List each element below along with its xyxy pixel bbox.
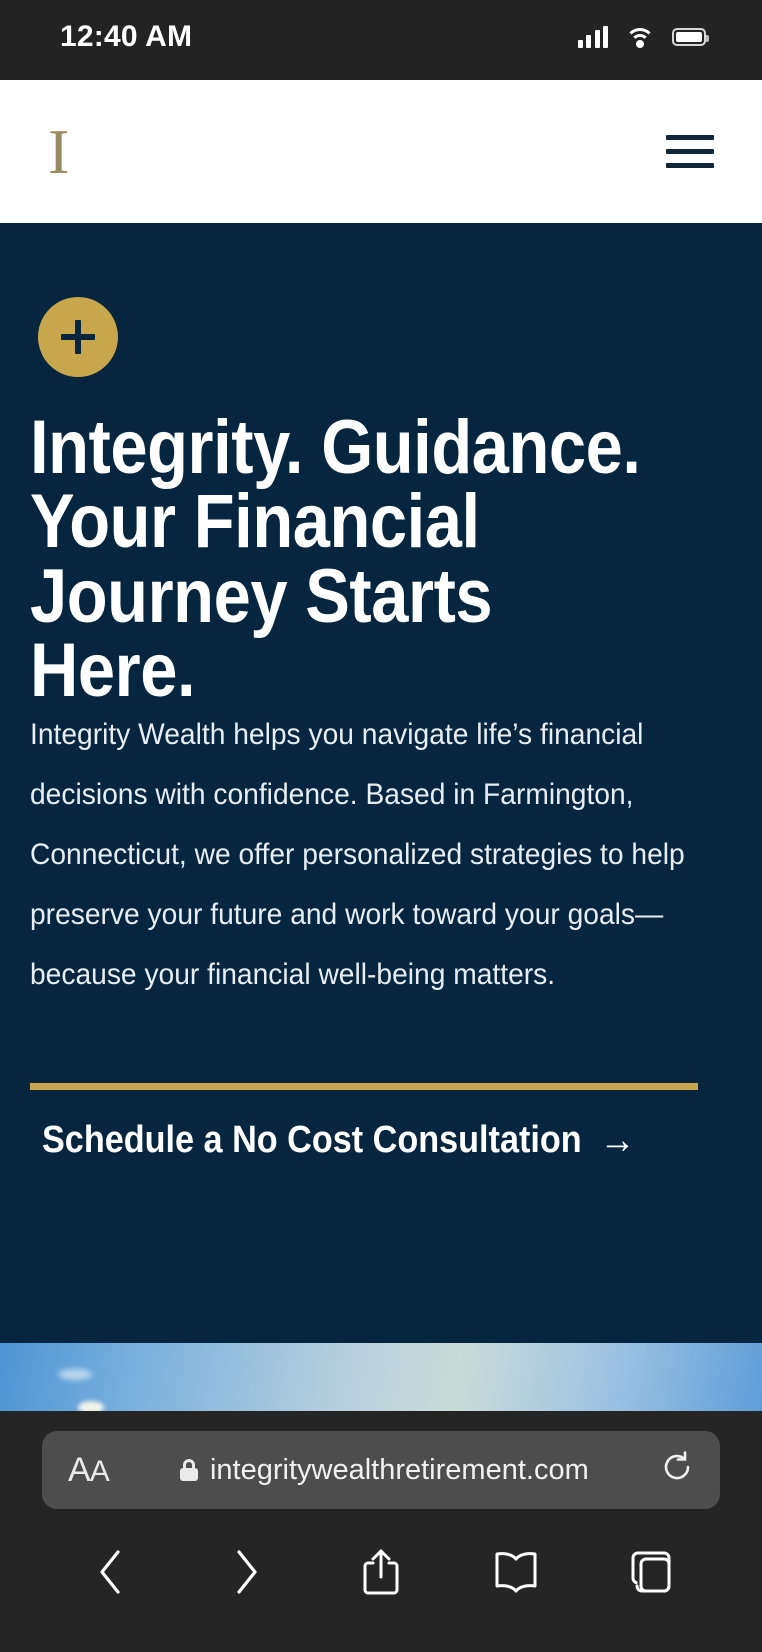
status-time: 12:40 AM: [38, 20, 192, 54]
lock-icon: [180, 1459, 198, 1481]
cellular-signal-icon: [578, 26, 609, 48]
reload-icon[interactable]: [660, 1450, 694, 1490]
page-title: Integrity. Guidance. Your Financial Jour…: [30, 411, 646, 709]
text-size-button[interactable]: AA: [68, 1451, 109, 1490]
browser-toolbar: [0, 1529, 762, 1615]
tabs-icon[interactable]: [622, 1543, 680, 1601]
hero-section: Integrity. Guidance. Your Financial Jour…: [0, 223, 762, 1343]
integrity-wealth-logo[interactable]: I: [48, 120, 69, 184]
cloud-shape: [58, 1369, 92, 1380]
arrow-right-icon: →: [600, 1118, 636, 1163]
hero-paragraph: Integrity Wealth helps you navigate life…: [30, 705, 726, 1005]
url-text: integritywealthretirement.com: [210, 1454, 589, 1487]
sky-photo: [0, 1343, 762, 1411]
chevron-left-icon[interactable]: [82, 1543, 140, 1601]
address-bar[interactable]: AA integritywealthretirement.com: [42, 1431, 720, 1509]
url-display[interactable]: integritywealthretirement.com: [109, 1454, 660, 1487]
chevron-right-icon[interactable]: [217, 1543, 275, 1601]
share-icon[interactable]: [352, 1543, 410, 1601]
battery-icon: [672, 28, 706, 46]
plus-icon[interactable]: [38, 297, 118, 377]
gold-divider: [30, 1083, 698, 1090]
status-icons: [578, 26, 725, 48]
browser-chrome: AA integritywealthretirement.com: [0, 1411, 762, 1652]
cta-label: Schedule a No Cost Consultation: [42, 1119, 582, 1162]
site-header: I: [0, 80, 762, 223]
wifi-icon: [625, 26, 655, 48]
status-bar: 12:40 AM: [0, 0, 762, 80]
phone-screen: 12:40 AM I Integrity. Guidance. Your Fin…: [0, 0, 762, 1652]
schedule-consultation-link[interactable]: Schedule a No Cost Consultation →: [42, 1118, 636, 1163]
book-icon[interactable]: [487, 1543, 545, 1601]
hamburger-menu-icon[interactable]: [666, 135, 714, 168]
